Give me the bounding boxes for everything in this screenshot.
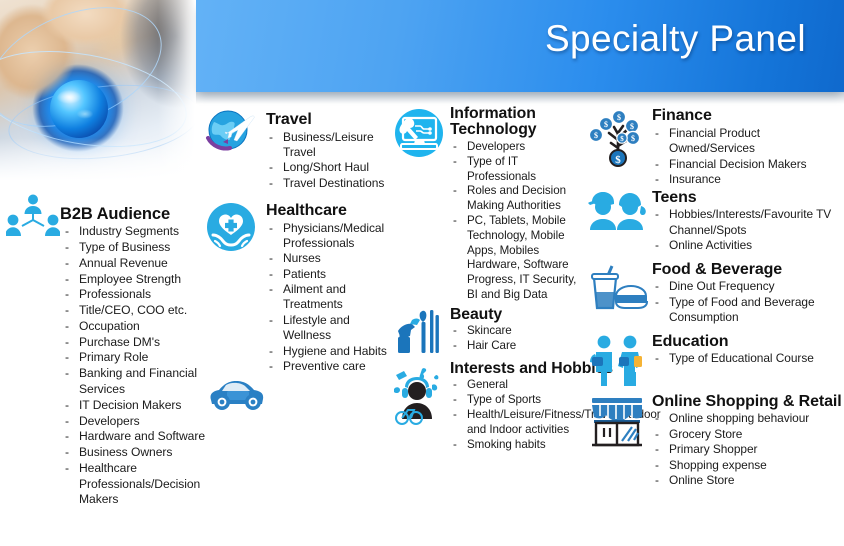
group-food-and-beverage: Food & Beverage Dine Out Frequency Type … bbox=[586, 262, 844, 326]
list-item: Lifestyle and Wellness bbox=[266, 313, 392, 344]
list-item: Travel Destinations bbox=[266, 176, 392, 191]
heart-hands-medical-icon bbox=[202, 201, 264, 257]
list-item: Financial Decision Makers bbox=[652, 157, 844, 172]
group-items: Online shopping behaviour Grocery Store … bbox=[652, 411, 844, 488]
banner-shadow bbox=[196, 92, 844, 104]
svg-text:$: $ bbox=[620, 135, 624, 143]
people-org-chart-icon bbox=[6, 194, 60, 238]
svg-text:$: $ bbox=[604, 120, 608, 129]
title-banner: Specialty Panel bbox=[196, 0, 844, 92]
svg-text:$: $ bbox=[594, 131, 598, 140]
storefront-icon bbox=[586, 394, 650, 450]
list-item: Developers bbox=[450, 140, 580, 155]
group-online-shopping-and-retail: Online Shopping & Retail Online shopping… bbox=[586, 394, 844, 489]
list-item: Purchase DM's bbox=[60, 335, 206, 351]
teen-boy-girl-icon bbox=[586, 190, 650, 234]
hand-globe-photo bbox=[0, 0, 200, 190]
list-item: Grocery Store bbox=[652, 427, 844, 442]
group-items: Financial Product Owned/Services Financi… bbox=[652, 126, 844, 188]
list-item: Employee Strength bbox=[60, 272, 206, 288]
list-item: Patients bbox=[266, 267, 392, 282]
group-finance: $ $$$ $$$ bbox=[586, 108, 844, 188]
group-title: Beauty bbox=[450, 307, 580, 323]
group-items: Industry Segments Type of Business Annua… bbox=[60, 224, 206, 508]
group-b2b-audience: B2B Audience Industry Segments Type of B… bbox=[6, 206, 206, 508]
group-items: Business/Leisure Travel Long/Short Haul … bbox=[266, 130, 392, 191]
monitor-wrench-icon bbox=[392, 106, 448, 160]
column-1: B2B Audience Industry Segments Type of B… bbox=[6, 206, 206, 514]
column-2: Travel Business/Leisure Travel Long/Shor… bbox=[202, 112, 392, 380]
group-healthcare: Healthcare Physicians/Medical Profession… bbox=[202, 203, 392, 374]
list-item: Business Owners bbox=[60, 445, 206, 461]
list-item: Dine Out Frequency bbox=[652, 279, 844, 294]
list-item: Preventive care bbox=[266, 359, 392, 374]
globe-airplane-icon bbox=[202, 108, 264, 156]
group-title: B2B Audience bbox=[60, 206, 206, 223]
list-item: Primary Shopper bbox=[652, 442, 844, 457]
page-title: Specialty Panel bbox=[545, 18, 806, 60]
list-item: Nurses bbox=[266, 251, 392, 266]
list-item: Business/Leisure Travel bbox=[266, 130, 392, 161]
list-item: IT Decision Makers bbox=[60, 398, 206, 414]
list-item: Financial Product Owned/Services bbox=[652, 126, 844, 157]
group-items: Dine Out Frequency Type of Food and Beve… bbox=[652, 279, 844, 325]
svg-text:$: $ bbox=[631, 134, 635, 143]
list-item: Occupation bbox=[60, 319, 206, 335]
list-item: Ailment and Treatments bbox=[266, 282, 392, 313]
svg-text:$: $ bbox=[630, 122, 634, 131]
group-title: Information Technology bbox=[450, 106, 580, 139]
group-education: Education Type of Educational Course bbox=[586, 334, 844, 386]
list-item: Hardware and Software bbox=[60, 429, 206, 445]
list-item: Type of Educational Course bbox=[652, 351, 844, 366]
group-items: Physicians/Medical Professionals Nurses … bbox=[266, 221, 392, 375]
money-tree-icon: $ $$$ $$$ bbox=[586, 108, 650, 170]
person-headphones-sports-icon bbox=[392, 361, 448, 435]
list-item: Developers bbox=[60, 414, 206, 430]
group-items: Skincare Hair Care bbox=[450, 324, 580, 354]
group-title: Healthcare bbox=[266, 203, 392, 220]
group-title: Food & Beverage bbox=[652, 262, 844, 279]
group-interests-and-hobbies: Interests and Hobbies General Type of Sp… bbox=[392, 361, 580, 453]
list-item: Physicians/Medical Professionals bbox=[266, 221, 392, 252]
list-item: Skincare bbox=[450, 324, 580, 339]
group-items: Hobbies/Interests/Favourite TV Channel/S… bbox=[652, 207, 844, 253]
list-item: Annual Revenue bbox=[60, 256, 206, 272]
list-item: Healthcare Professionals/Decision Makers bbox=[60, 461, 206, 508]
list-item: Industry Segments bbox=[60, 224, 206, 240]
group-title: Online Shopping & Retail bbox=[652, 394, 844, 411]
list-item: Primary Role bbox=[60, 350, 206, 366]
group-teens: Teens Hobbies/Interests/Favourite TV Cha… bbox=[586, 190, 844, 254]
glowing-globe-icon bbox=[50, 80, 108, 138]
list-item: Online shopping behaviour bbox=[652, 411, 844, 426]
column-4: $ $$$ $$$ bbox=[586, 108, 844, 495]
list-item: Type of IT Professionals bbox=[450, 155, 580, 185]
photo-fade-right bbox=[158, 0, 200, 190]
svg-text:$: $ bbox=[615, 154, 621, 166]
list-item: Hygiene and Habits bbox=[266, 344, 392, 359]
list-item: Long/Short Haul bbox=[266, 160, 392, 175]
list-item: Insurance bbox=[652, 172, 844, 187]
list-item: Online Store bbox=[652, 473, 844, 488]
group-travel: Travel Business/Leisure Travel Long/Shor… bbox=[202, 112, 392, 191]
group-information-technology: Information Technology Developers Type o… bbox=[392, 106, 580, 303]
group-title: Finance bbox=[652, 108, 844, 125]
drink-burger-icon bbox=[586, 262, 650, 314]
list-item: Hair Care bbox=[450, 339, 580, 354]
list-item: Professionals bbox=[60, 287, 206, 303]
group-items: Type of Educational Course bbox=[652, 351, 844, 366]
list-item: Type of Food and Beverage Consumption bbox=[652, 295, 844, 326]
list-item: Banking and Financial Services bbox=[60, 366, 206, 398]
group-title: Education bbox=[652, 334, 844, 351]
list-item: Type of Business bbox=[60, 240, 206, 256]
group-title: Teens bbox=[652, 190, 844, 207]
lipstick-brush-icon bbox=[392, 307, 448, 357]
list-item: Online Activities bbox=[652, 238, 844, 253]
list-item: Hobbies/Interests/Favourite TV Channel/S… bbox=[652, 207, 844, 238]
group-beauty: Beauty Skincare Hair Care bbox=[392, 307, 580, 357]
list-item: Title/CEO, COO etc. bbox=[60, 303, 206, 319]
students-icon bbox=[586, 334, 650, 386]
list-item: PC, Tablets, Mobile Technology, Mobile A… bbox=[450, 214, 580, 303]
list-item: Shopping expense bbox=[652, 458, 844, 473]
slide-canvas: Specialty Panel bbox=[0, 0, 844, 546]
car-icon bbox=[206, 374, 268, 414]
group-items: Developers Type of IT Professionals Role… bbox=[450, 140, 580, 303]
column-3: Information Technology Developers Type o… bbox=[392, 106, 580, 459]
list-item: Roles and Decision Making Authorities bbox=[450, 184, 580, 214]
group-title: Travel bbox=[266, 112, 392, 129]
svg-text:$: $ bbox=[617, 113, 621, 122]
